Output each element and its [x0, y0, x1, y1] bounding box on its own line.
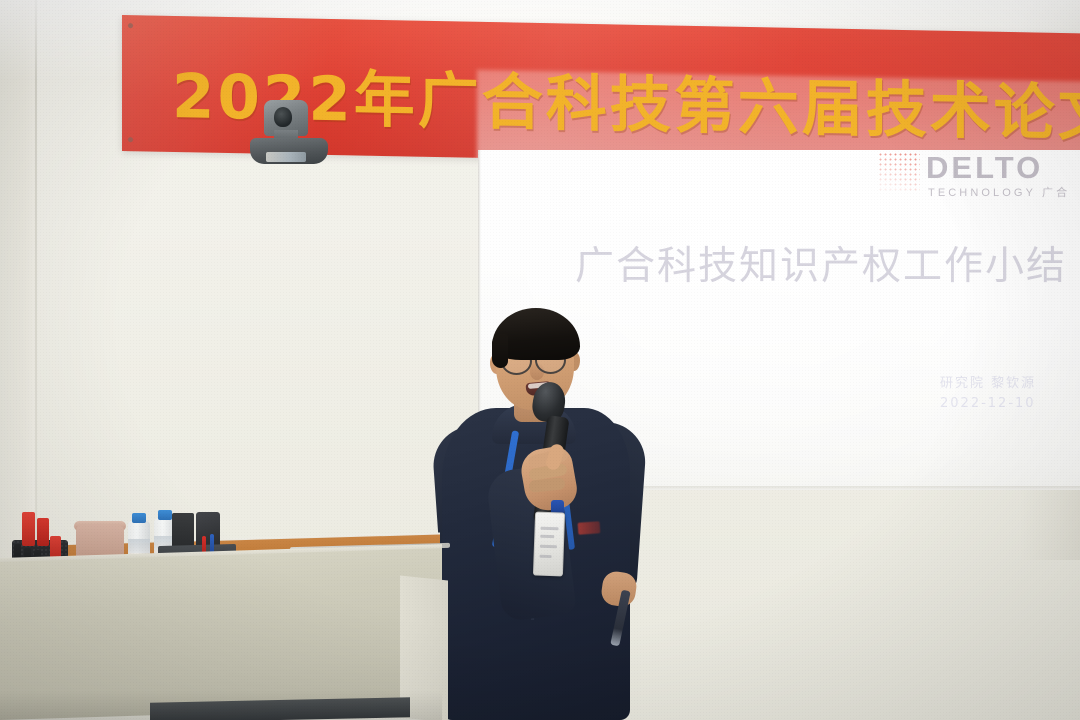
wall-seam — [35, 0, 37, 600]
badge-text-line — [540, 555, 552, 558]
jacket-chest-logo — [578, 521, 601, 535]
camera-lens-icon — [274, 107, 292, 127]
bottle-label — [128, 539, 150, 553]
slide-company-logo: DELTO TECHNOLOGY 广合 — [878, 150, 1080, 200]
bottle-cap — [132, 513, 146, 523]
badge-text-line — [540, 545, 557, 549]
slide-author: 研究院 黎钦源 — [940, 372, 1036, 391]
id-badge — [533, 511, 565, 576]
red-marker — [22, 512, 35, 546]
presenter-sideburn — [492, 334, 508, 368]
badge-text-line — [540, 527, 558, 531]
badge-text-line — [540, 535, 554, 538]
slide-title: 广合科技知识产权工作小结 — [575, 235, 1067, 291]
red-marker — [37, 518, 49, 546]
camera-faceplate — [266, 152, 306, 162]
logo-subtitle: TECHNOLOGY 广合 — [928, 184, 1070, 200]
logo-wordmark: DELTO — [926, 150, 1043, 186]
bottle-cap — [158, 510, 172, 520]
ptz-camera — [250, 100, 330, 172]
slide-date: 2022-12-10 — [940, 396, 1036, 411]
banner-grommet-icon — [128, 137, 133, 142]
banner-grommet-icon — [128, 23, 133, 28]
logo-dot-grid-icon — [878, 152, 920, 192]
wall-left-panel — [0, 0, 36, 600]
presenter — [430, 300, 680, 720]
presentation-photo-scene: 2022年广合科技第六届技术论文评审暨知 DELTO TECHNOLOGY 广合… — [0, 0, 1080, 720]
